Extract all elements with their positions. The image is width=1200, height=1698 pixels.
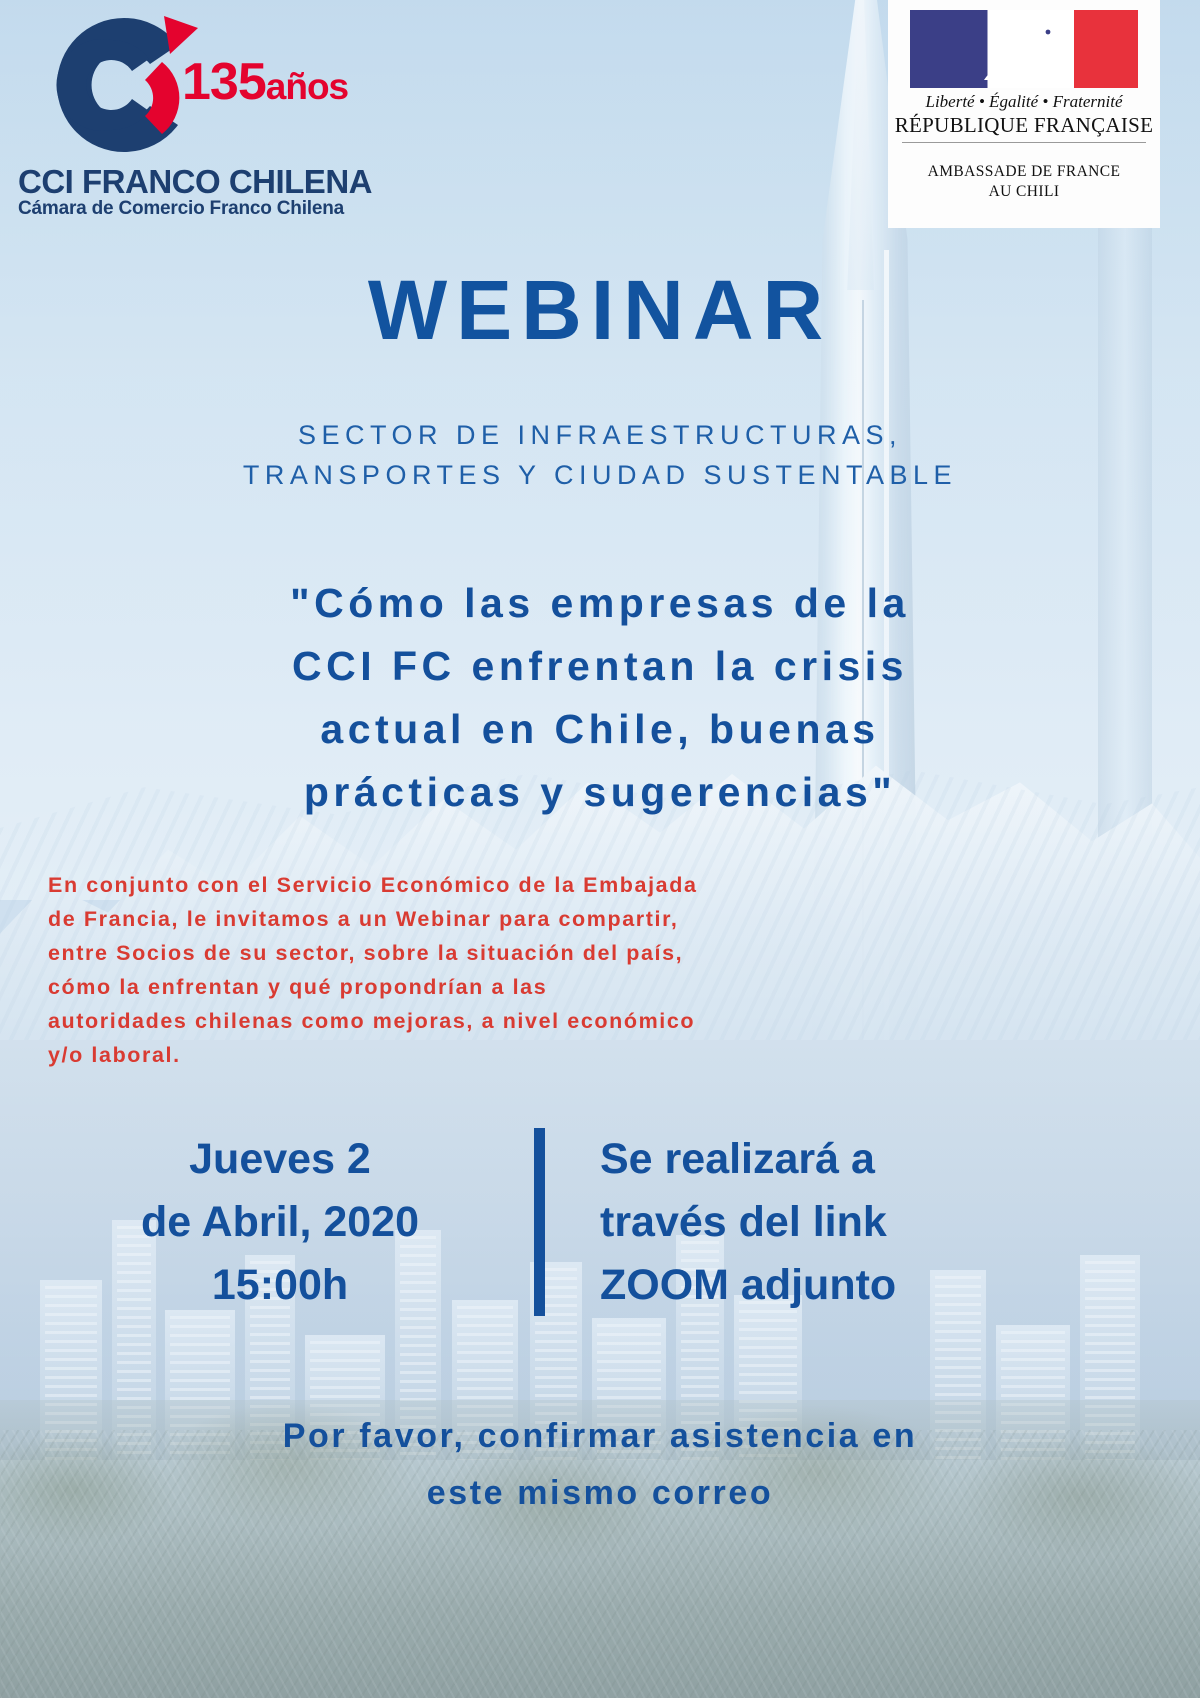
quote-line: actual en Chile, buenas bbox=[0, 698, 1200, 761]
intro-line: entre Socios de su sector, sobre la situ… bbox=[48, 936, 1108, 970]
invitation-paragraph: En conjunto con el Servicio Económico de… bbox=[48, 868, 1108, 1072]
intro-line: cómo la enfrentan y qué propondrían a la… bbox=[48, 970, 1108, 1004]
intro-line: autoridades chilenas como mejoras, a niv… bbox=[48, 1004, 1108, 1038]
date-line: Jueves 2 bbox=[60, 1128, 500, 1191]
quote-line: CCI FC enfrentan la crisis bbox=[0, 635, 1200, 698]
link-line: través del link bbox=[600, 1191, 1080, 1254]
page-title: WEBINAR bbox=[0, 268, 1200, 352]
subtitle-line: SECTOR DE INFRAESTRUCTURAS, bbox=[0, 415, 1200, 455]
confirm-line: este mismo correo bbox=[0, 1465, 1200, 1522]
intro-line: y/o laboral. bbox=[48, 1038, 1108, 1072]
time-line: 15:00h bbox=[60, 1254, 500, 1317]
link-line: ZOOM adjunto bbox=[600, 1254, 1080, 1317]
zoom-link-block: Se realizará a través del link ZOOM adju… bbox=[600, 1128, 1080, 1317]
quote-line: prácticas y sugerencias" bbox=[0, 761, 1200, 824]
subtitle-line: TRANSPORTES Y CIUDAD SUSTENTABLE bbox=[0, 455, 1200, 495]
link-line: Se realizará a bbox=[600, 1128, 1080, 1191]
intro-line: En conjunto con el Servicio Económico de… bbox=[48, 868, 1108, 902]
webinar-poster: 135años CCI FRANCO CHILENA Cámara de Com… bbox=[0, 0, 1200, 1698]
date-line: de Abril, 2020 bbox=[60, 1191, 500, 1254]
quote-line: "Cómo las empresas de la bbox=[0, 572, 1200, 635]
intro-line: de Francia, le invitamos a un Webinar pa… bbox=[48, 902, 1108, 936]
event-datetime-block: Jueves 2 de Abril, 2020 15:00h bbox=[60, 1128, 500, 1317]
vertical-divider bbox=[534, 1128, 545, 1316]
confirmation-call-to-action: Por favor, confirmar asistencia en este … bbox=[0, 1408, 1200, 1522]
webinar-topic-quote: "Cómo las empresas de la CCI FC enfrenta… bbox=[0, 572, 1200, 824]
poster-content: WEBINAR SECTOR DE INFRAESTRUCTURAS, TRAN… bbox=[0, 0, 1200, 1698]
sector-subtitle: SECTOR DE INFRAESTRUCTURAS, TRANSPORTES … bbox=[0, 415, 1200, 495]
confirm-line: Por favor, confirmar asistencia en bbox=[0, 1408, 1200, 1465]
